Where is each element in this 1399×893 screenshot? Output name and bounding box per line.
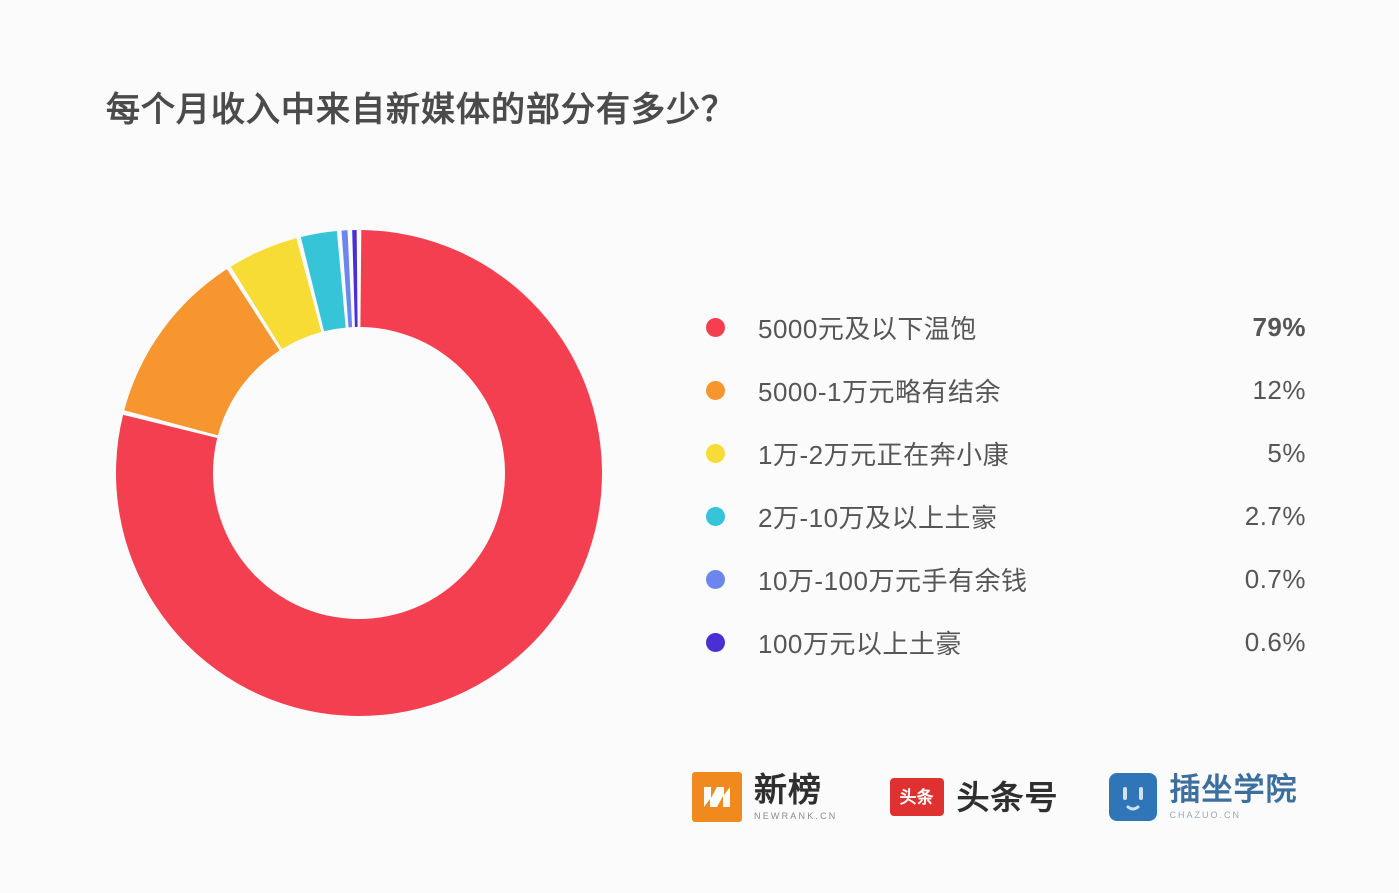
chazuo-name-cn: 插坐学院: [1170, 774, 1298, 805]
legend-item-value: 0.7%: [1202, 564, 1306, 595]
donut-slices: [116, 230, 602, 716]
legend-item-label: 10万-100万元手有余钱: [758, 561, 1202, 598]
newrank-text: 新榜 NEWRANK.CN: [754, 773, 838, 821]
donut-chart-svg: [112, 226, 606, 720]
legend-item[interactable]: 100万元以上土豪0.6%: [706, 611, 1306, 674]
legend-item[interactable]: 5000元及以下温饱79%: [706, 296, 1306, 359]
legend-item-label: 100万元以上土豪: [758, 624, 1202, 661]
legend-item-value: 2.7%: [1202, 501, 1306, 532]
legend-item-value: 0.6%: [1202, 627, 1306, 658]
newrank-name-cn: 新榜: [754, 773, 838, 806]
chazuo-name-en: CHAZUO.CN: [1170, 810, 1298, 820]
toutiao-text: 头条号: [957, 781, 1059, 814]
newrank-n-glyph: [700, 780, 734, 814]
legend-item[interactable]: 10万-100万元手有余钱0.7%: [706, 548, 1306, 611]
logo-toutiao: 头条 头条号: [890, 778, 1059, 816]
chart-legend: 5000元及以下温饱79%5000-1万元略有结余12%1万-2万元正在奔小康5…: [706, 296, 1306, 674]
toutiao-logo-icon: 头条: [890, 778, 944, 816]
page-title: 每个月收入中来自新媒体的部分有多少？: [106, 82, 736, 131]
chazuo-logo-icon: [1109, 773, 1157, 821]
chazuo-face-glyph: [1109, 773, 1157, 821]
legend-color-dot: [706, 633, 725, 652]
legend-color-dot: [706, 444, 725, 463]
legend-color-dot: [706, 507, 725, 526]
newrank-logo-icon: [692, 772, 742, 822]
toutiao-name-cn: 头条号: [957, 781, 1059, 814]
legend-color-dot: [706, 381, 725, 400]
legend-item-value: 79%: [1202, 312, 1306, 343]
legend-item[interactable]: 1万-2万元正在奔小康5%: [706, 422, 1306, 485]
legend-item-value: 12%: [1202, 375, 1306, 406]
logo-newrank: 新榜 NEWRANK.CN: [692, 772, 838, 822]
legend-item-label: 1万-2万元正在奔小康: [758, 435, 1202, 472]
newrank-name-en: NEWRANK.CN: [754, 811, 838, 821]
donut-chart: [112, 226, 606, 720]
legend-item[interactable]: 5000-1万元略有结余12%: [706, 359, 1306, 422]
legend-color-dot: [706, 570, 725, 589]
legend-color-dot: [706, 318, 725, 337]
footer-logos: 新榜 NEWRANK.CN 头条 头条号 插坐学院 CHAZUO.CN: [692, 772, 1298, 822]
legend-item[interactable]: 2万-10万及以上土豪2.7%: [706, 485, 1306, 548]
legend-item-label: 5000-1万元略有结余: [758, 372, 1202, 409]
legend-item-label: 5000元及以下温饱: [758, 309, 1202, 346]
logo-chazuo: 插坐学院 CHAZUO.CN: [1109, 773, 1298, 821]
legend-item-value: 5%: [1202, 438, 1306, 469]
chazuo-text: 插坐学院 CHAZUO.CN: [1170, 774, 1298, 820]
donut-slice[interactable]: [352, 230, 357, 327]
legend-item-label: 2万-10万及以上土豪: [758, 498, 1202, 535]
